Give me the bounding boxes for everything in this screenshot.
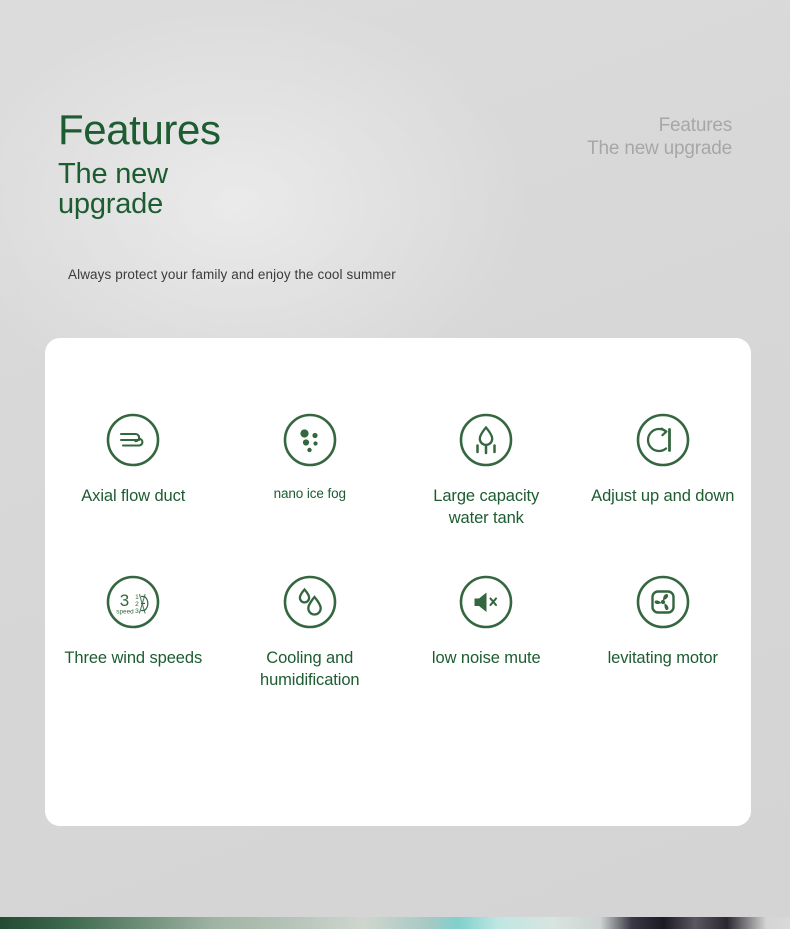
feature-label: Three wind speeds <box>64 647 202 669</box>
tagline-text: Always protect your family and enjoy the… <box>68 265 428 285</box>
three-wind-speeds-icon: 3 speed 1 2 3 <box>103 572 163 632</box>
page-title: Features The new upgrade <box>58 108 268 220</box>
three-speed-tick-1: 1 <box>135 594 139 601</box>
feature-item[interactable]: levitating motor <box>575 572 752 692</box>
header-section: Features The new upgrade Features The ne… <box>0 0 790 330</box>
cooling-humidification-icon <box>280 572 340 632</box>
feature-item[interactable]: Large capacity water tank <box>398 410 575 530</box>
page-title-sub: The new upgrade <box>58 159 268 220</box>
watermark-line-1: Features <box>587 114 732 137</box>
feature-item[interactable]: nano ice fog <box>222 410 399 530</box>
feature-label: Large capacity water tank <box>411 485 561 530</box>
watermark-line-2: The new upgrade <box>587 137 732 160</box>
three-speed-word: speed <box>117 608 135 615</box>
three-speed-tick-2: 2 <box>135 601 139 608</box>
three-speed-number: 3 <box>120 591 129 610</box>
feature-label: Cooling and humidification <box>235 647 385 692</box>
feature-label: low noise mute <box>432 647 541 669</box>
feature-label: Axial flow duct <box>81 485 185 507</box>
feature-item[interactable]: Cooling and humidification <box>222 572 399 692</box>
water-tank-icon <box>456 410 516 470</box>
bottom-photo-strip <box>0 917 790 929</box>
low-noise-mute-icon <box>456 572 516 632</box>
features-grid: Axial flow duct nano ice fog <box>45 410 751 691</box>
levitating-motor-icon <box>633 572 693 632</box>
three-speed-tick-3: 3 <box>135 608 139 615</box>
page-root: Features The new upgrade Features The ne… <box>0 0 790 929</box>
feature-label: Adjust up and down <box>591 485 734 507</box>
feature-label: nano ice fog <box>274 485 346 503</box>
nano-ice-fog-icon <box>280 410 340 470</box>
adjust-up-down-icon <box>633 410 693 470</box>
feature-item[interactable]: low noise mute <box>398 572 575 692</box>
feature-item[interactable]: Axial flow duct <box>45 410 222 530</box>
axial-flow-duct-icon <box>103 410 163 470</box>
page-title-main: Features <box>58 108 268 153</box>
feature-item[interactable]: Adjust up and down <box>575 410 752 530</box>
feature-label: levitating motor <box>608 647 718 669</box>
watermark-title: Features The new upgrade <box>587 114 732 160</box>
features-card: Axial flow duct nano ice fog <box>45 338 751 826</box>
feature-item[interactable]: 3 speed 1 2 3 Three wind speeds <box>45 572 222 692</box>
